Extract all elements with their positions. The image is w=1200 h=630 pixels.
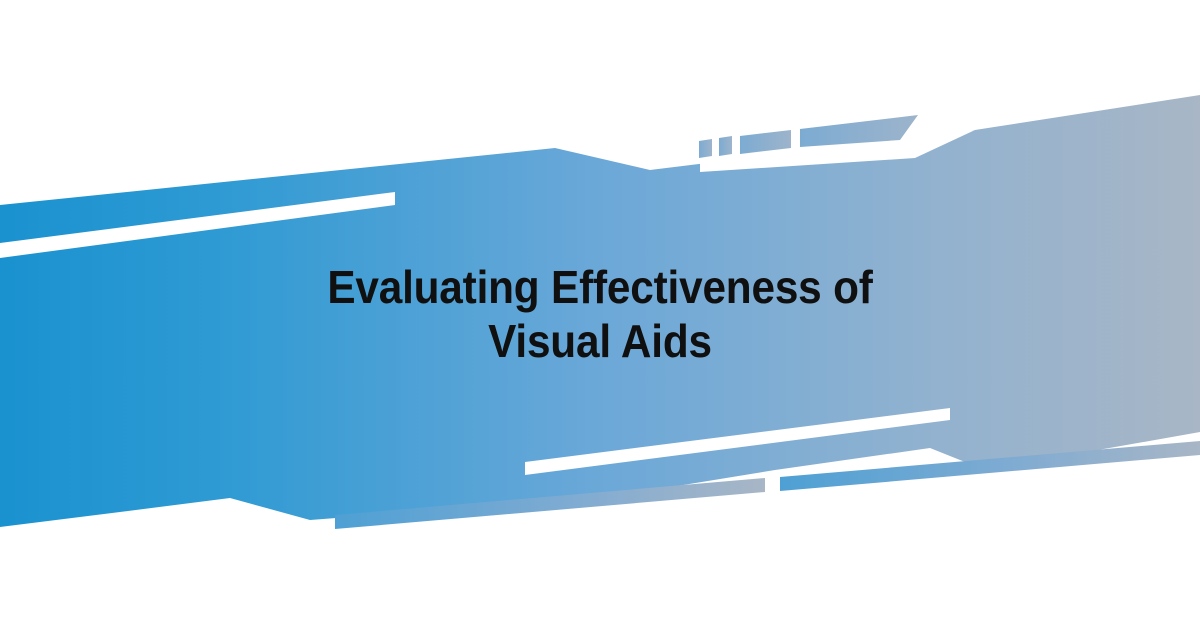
dash-mark-1 — [699, 139, 712, 158]
dash-mark-2 — [719, 136, 732, 156]
banner: Evaluating Effectiveness of Visual Aids — [0, 0, 1200, 630]
banner-graphic — [0, 0, 1200, 630]
